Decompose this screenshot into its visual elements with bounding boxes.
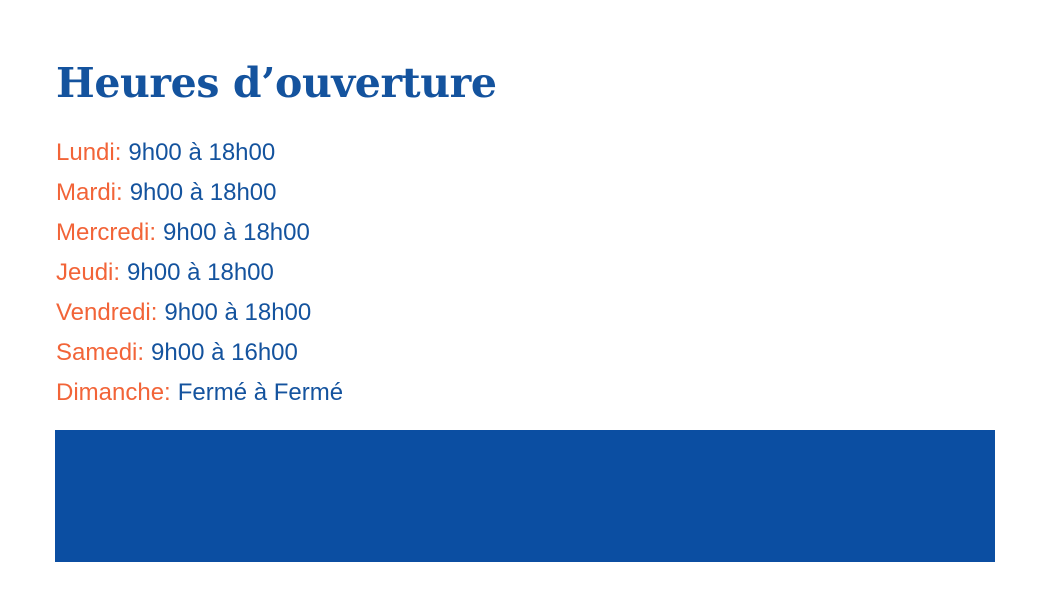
day-hours: Fermé à Fermé (178, 379, 343, 406)
day-hours: 9h00 à 16h00 (151, 339, 298, 366)
day-label: Mardi: (56, 179, 123, 206)
list-item: Mardi:9h00 à 18h00 (56, 173, 656, 213)
day-label: Mercredi: (56, 219, 156, 246)
day-label: Samedi: (56, 339, 144, 366)
list-item: Jeudi:9h00 à 18h00 (56, 253, 656, 293)
day-label: Dimanche: (56, 379, 171, 406)
page-title: Heures d’ouverture (56, 62, 497, 105)
day-label: Lundi: (56, 139, 121, 166)
opening-hours-list: Lundi:9h00 à 18h00 Mardi:9h00 à 18h00 Me… (56, 133, 656, 413)
opening-hours-page: Heures d’ouverture Lundi:9h00 à 18h00 Ma… (0, 0, 1050, 600)
day-hours: 9h00 à 18h00 (130, 179, 277, 206)
day-hours: 9h00 à 18h00 (127, 259, 274, 286)
list-item: Mercredi:9h00 à 18h00 (56, 213, 656, 253)
day-label: Jeudi: (56, 259, 120, 286)
list-item: Dimanche:Fermé à Fermé (56, 373, 656, 413)
list-item: Vendredi:9h00 à 18h00 (56, 293, 656, 333)
day-label: Vendredi: (56, 299, 157, 326)
list-item: Samedi:9h00 à 16h00 (56, 333, 656, 373)
blue-banner (55, 430, 995, 562)
day-hours: 9h00 à 18h00 (164, 299, 311, 326)
day-hours: 9h00 à 18h00 (163, 219, 310, 246)
day-hours: 9h00 à 18h00 (128, 139, 275, 166)
list-item: Lundi:9h00 à 18h00 (56, 133, 656, 173)
